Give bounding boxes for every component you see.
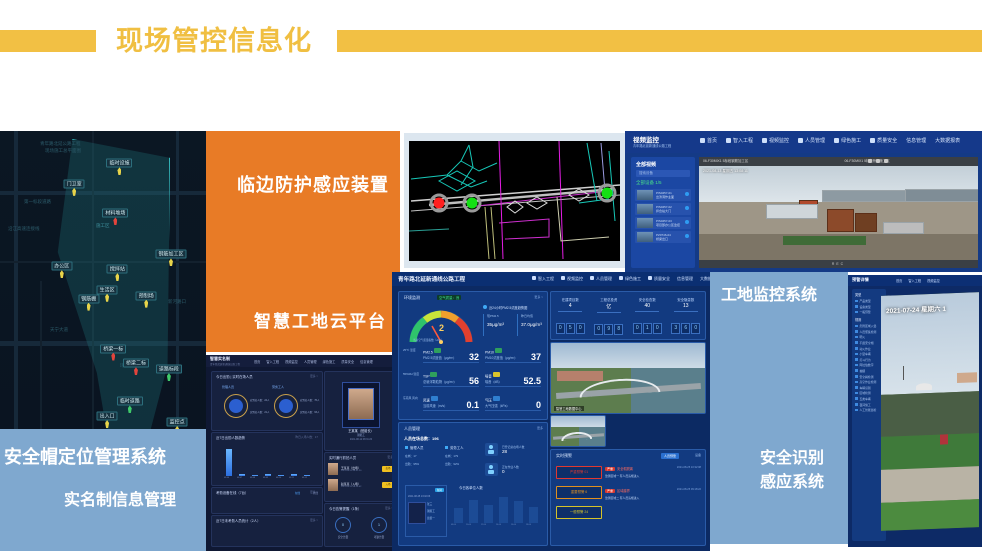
realname-dashboard-panel[interactable]: 智慧实名制 青年路北延新通线公路工程 首页智入工程视频监控人员管理绿色施工质量安… [206, 355, 400, 551]
dashboard-nav-item[interactable]: 视频监控 [561, 276, 583, 282]
counter-digits: 050 [551, 316, 590, 334]
feed-crate [855, 213, 877, 232]
env-metric-side: 55%RH 湿度 [403, 372, 421, 376]
attendance-chart-axis: 08-0608-0708-0808-0908-1008-1108-12 [224, 477, 316, 483]
cad-clash-node[interactable] [598, 184, 617, 203]
map-marker-label[interactable]: 生活区 [97, 285, 118, 294]
counter-divider [558, 311, 582, 312]
camera-status-dot [685, 220, 689, 224]
nav-icon [619, 276, 623, 280]
realname-nav-item[interactable]: 绿色施工 [323, 359, 336, 364]
attendance-card[interactable]: 今日出勤 | 实时在场人员 更多 > 管理人员 劳务工人 应到总人数：24人 实… [211, 371, 323, 431]
realname-topbar: 智慧实名制 青年路北延新通线公路工程 首页智入工程视频监控人员管理绿色施工质量安… [206, 355, 400, 367]
device-card-title: 考勤设备在线（7台） [216, 490, 248, 495]
bar [514, 501, 523, 523]
dashboard-nav[interactable]: 智入工程视频监控人员管理绿色施工质量安全信息管理大数据报表 [532, 276, 710, 282]
people-card-more[interactable]: 更多 [537, 426, 543, 430]
video-nav-item[interactable]: 大数据报表 [935, 137, 960, 144]
map-marker-label[interactable]: 钢筋棚 [78, 294, 99, 303]
realname-nav-item[interactable]: 首页 [254, 359, 260, 364]
env-card-title: 环境监测 [404, 295, 420, 301]
trend-card-title: 近7日出勤人数趋势 [216, 435, 245, 440]
env-metric-value: 37 [531, 352, 541, 362]
alarm-stat-label: 安全告警 [335, 535, 351, 539]
people-photo-card[interactable]: 在岗 2021-08-25 13:02:06 张三钢筋工班组一 [405, 485, 447, 537]
people-group-name: 劳务工人 [445, 445, 464, 450]
video-camera-list[interactable]: PIS0457-01出渣洞作业面PIS0457-02拌合站大门PIS0457-0… [631, 189, 695, 243]
person-icon [485, 463, 498, 476]
video-nav-item[interactable]: 首页 [700, 137, 717, 144]
env-metric-value: 32 [469, 352, 479, 362]
warn-topbar: 预警详情 首页智入工程视频监控 [848, 275, 982, 286]
alarm-row[interactable]: 严重安全帽脱离2021-08-25 10:32:08监测区域一 有人员违规进入 [605, 466, 701, 478]
bar [304, 475, 310, 476]
device-online-card[interactable]: 考勤设备在线（7台） 更多 > 在线 离线 [211, 487, 323, 514]
capture-rows[interactable]: 王某某（出场）2021-08-12 08:31:20出场赵某某（入场）2021-… [328, 463, 394, 495]
realname-project: 青年路北延新通线公路工程 [210, 362, 240, 366]
camera-text: PIS0457-01出渣洞作业面 [656, 191, 674, 200]
bar [252, 475, 258, 476]
realname-nav-item[interactable]: 信息管理 [360, 359, 373, 364]
nav-icon [834, 138, 839, 143]
bar [484, 505, 493, 523]
device-legend-online: 在线 [295, 491, 300, 495]
env-metric: 风速 当前风速（m/s）0.1 [423, 396, 479, 411]
bullet-icon [405, 446, 408, 449]
project-counter: 在建项目数4050 [551, 297, 590, 334]
orange-caption-line2: 智慧工地云平台 [254, 307, 387, 332]
axis-tick-label: 08-08 [250, 477, 255, 479]
people-total: 人员在场总数：196 [404, 436, 439, 442]
map-marker-label[interactable]: 桥梁二标 [123, 359, 149, 368]
people-rate: 出勤：95% [405, 462, 424, 466]
attendance-trend-card[interactable]: 近7日出勤人数趋势 昨日入场人数：17 08-0608-0708-0808-09… [211, 432, 323, 486]
video-nav-item[interactable]: 人员管理 [798, 137, 825, 144]
attendance-card-more[interactable]: 更多 > [310, 374, 318, 378]
env-metric-value: 56 [469, 376, 479, 386]
axis-tick-label: 16:00 [511, 524, 516, 526]
alarm-row-title: 区域越界 [617, 489, 630, 493]
env-metric-value: 0.1 [466, 400, 479, 410]
face-frame [342, 382, 380, 428]
people-on-duty: 在岗：179 [445, 454, 464, 458]
video-nav-item[interactable]: 质量安全 [870, 137, 897, 144]
bar [469, 500, 478, 523]
capture-row[interactable]: 王某某（出场）2021-08-12 08:31:20出场 [328, 463, 394, 475]
project-counters-card: 在建项目数4050工程总投资亿098安全检查数40010安全隐患数13360 [550, 291, 706, 340]
map-label: 沿江高速连接线 [8, 226, 40, 232]
face-capture-card[interactable]: 王某某（班组长） 钢筋工 2021-08-12 08:31:20 [324, 371, 398, 451]
alarm-tab-people[interactable]: 人员预警 [661, 453, 679, 459]
map-label: 天宁大道 [50, 327, 68, 333]
video-sidebar-title: 全部视频 [631, 157, 695, 170]
realtime-alarm-card[interactable]: 实时预警 人员预警 设备 严重预警 01重要预警 6一般预警 24 严重安全帽脱… [550, 449, 706, 546]
people-photo-time: 2021-08-25 13:02:06 [408, 495, 430, 498]
env-note-text: 近24小时PM2.5浓度趋势图 [489, 306, 527, 310]
alarm-row-tag: 严重 [605, 489, 615, 493]
dashboard-nav-item[interactable]: 信息管理 [677, 276, 693, 282]
warn-photo-person [940, 434, 948, 444]
bar [226, 449, 232, 476]
device-legend-offline: 离线 [313, 491, 318, 495]
missed-card-title: 近7日未考勤人员统计（2人） [216, 518, 260, 523]
warn-nav-item[interactable]: 首页 [896, 278, 902, 283]
capture-row[interactable]: 赵某某（入场）2021-08-12 08:29:02入场 [328, 479, 394, 491]
counter-divider [674, 311, 698, 312]
gauge-manager-sub-b: 实到总人数：21人 [250, 410, 269, 414]
axis-tick-label: 08-12 [302, 477, 307, 479]
realname-nav-item[interactable]: 质量安全 [341, 359, 354, 364]
map-marker-label[interactable]: 道路标段 [156, 365, 182, 374]
smart-site-dashboard-panel[interactable]: 青年路北延新通线公路工程 智入工程视频监控人员管理绿色施工质量安全信息管理大数据… [392, 272, 710, 551]
counter-digits: 098 [590, 317, 629, 335]
people-on-duty: 在岗：17 [405, 454, 424, 458]
capture-list-card[interactable]: 实时通行抓拍人员 更多 王某某（出场）2021-08-12 08:31:20出场… [324, 452, 398, 502]
video-project-name: 青年路北延新通线公路工程 [633, 143, 671, 148]
header-accent-bar-left [0, 30, 96, 52]
alarm-stats-title: 今日告警提醒（1条） [329, 506, 361, 511]
warn-photo-foreground [881, 499, 979, 531]
alarm-stat-value: 1 [371, 517, 387, 533]
map-marker-label[interactable]: 门卫室 [64, 179, 85, 188]
camera-text: PZ0746-04桥梁出口 [656, 233, 671, 242]
axis-tick-label: 14:00 [496, 524, 501, 526]
people-meta-item: 钢筋工 [427, 509, 435, 513]
feed-structure [822, 190, 908, 201]
counter-value: 40 [628, 303, 667, 309]
gauge-worker-sub-b: 实到总人数：63人 [300, 410, 319, 414]
people-group: 管理人员在岗：17出勤：95% [405, 445, 424, 466]
map-marker-label[interactable]: 出入口 [97, 412, 118, 421]
alarm-stats-card[interactable]: 今日告警提醒（1条） 更多 > 0安全告警1考勤告警 [324, 503, 398, 547]
axis-tick-label: 08-06 [224, 477, 229, 479]
project-thumb-card[interactable] [550, 415, 606, 447]
axis-tick-label: 10:00 [466, 524, 471, 526]
camera-thumbnail [637, 204, 653, 214]
gauge-worker [274, 394, 298, 418]
env-pm-now-label: 现PM2.5 [487, 314, 499, 318]
video-surveillance-panel[interactable]: 视频监控 青年路北延新通线公路工程 首页智入工程视频监控人员管理绿色施工质量安全… [625, 131, 982, 272]
attendance-bar-chart [224, 444, 316, 476]
env-metric-badge [493, 396, 500, 401]
video-all-label: 全部设备 1/5 [636, 180, 690, 186]
camera-status-dot [685, 192, 689, 196]
people-side-text: 已登记总在场人数28 [502, 445, 524, 454]
dashboard-nav-item[interactable]: 大数据报表 [700, 276, 710, 282]
people-photo-thumb [408, 502, 426, 524]
warn-photo-road [881, 466, 979, 503]
alarm-tab-device[interactable]: 设备 [695, 453, 701, 457]
axis-tick-label: 08-11 [289, 477, 294, 479]
people-chart-title: 今日各单位人数 [459, 485, 483, 490]
record-icon[interactable] [876, 159, 880, 163]
gauge-manager-sub-a: 应到总人数：24人 [250, 398, 269, 402]
thumb-sky [551, 416, 605, 427]
video-feed[interactable]: 2021-08-13 星期五 13:08:11 [699, 166, 978, 260]
warn-photo[interactable] [881, 292, 979, 531]
counter-value: 亿 [590, 303, 629, 310]
bar [278, 475, 284, 476]
counter-label: 安全隐患数 [667, 297, 706, 302]
feed-crate [827, 209, 854, 232]
env-pm-day-value: 37.0μg/m³ [521, 322, 542, 327]
camera-text: PIS0457-03项目部办公区监控 [656, 219, 680, 228]
dashboard-nav-item[interactable]: 智入工程 [532, 276, 554, 282]
video-nav[interactable]: 首页智入工程视频监控人员管理绿色施工质量安全信息管理大数据报表 [700, 137, 960, 144]
blue-caption-line2: 安全识别 [760, 444, 824, 468]
axis-tick-label: 08:00 [451, 524, 456, 526]
map-label: 新河路口 [168, 299, 186, 305]
cad-clash-node[interactable] [430, 194, 449, 213]
camera-thumbnail [637, 218, 653, 228]
map-marker-label[interactable]: 钢筋加工区 [155, 250, 186, 259]
feed-vegetation [783, 236, 867, 245]
video-camera-sidebar[interactable]: 全部视频 搜索设备 全部设备 1/5 PIS0457-01出渣洞作业面PIS04… [631, 157, 695, 268]
trend-card-right: 昨日入场人数：17 [295, 435, 318, 439]
env-divider [483, 314, 484, 336]
legend-dot-icon [483, 305, 487, 309]
aqi-value: 2 [439, 323, 444, 333]
map-marker-label[interactable]: 监控点 [167, 418, 188, 427]
people-group: 劳务工人在岗：179出勤：92% [445, 445, 464, 466]
capture-face-thumb [328, 463, 338, 475]
aqi-caption: 当前空气质量指数（AQI） [413, 338, 443, 342]
warn-photo-tent [916, 383, 932, 391]
axis-tick-label: 08-10 [276, 477, 281, 479]
realname-nav[interactable]: 首页智入工程视频监控人员管理绿色施工质量安全信息管理 [254, 359, 373, 364]
gallery-caption: 智慧工地数据中心 [554, 406, 584, 411]
alarm-row-time: 2021-08-25 10:32:08 [677, 466, 701, 469]
map-label: 现场施工总平面图 [45, 148, 81, 154]
attendance-card-title: 今日出勤 | 实时在场人员 [216, 374, 253, 379]
nav-icon [798, 138, 803, 143]
header-accent-bar-right [337, 30, 982, 52]
bar [239, 474, 245, 476]
realname-nav-item[interactable]: 视频监控 [285, 359, 298, 364]
capture-face-thumb [328, 479, 338, 491]
warn-photo-grass [881, 433, 979, 470]
warn-title: 预警详情 [852, 277, 869, 283]
gauge-manager-label: 管理人员 [222, 385, 234, 389]
orange-caption-line1: 临边防护感应装置 [237, 171, 389, 197]
env-metric-unit: 大气压强（kPa） [485, 403, 541, 408]
counter-digits: 360 [667, 316, 706, 334]
bar [454, 508, 463, 523]
map-marker-label[interactable]: 临时设施 [106, 159, 132, 168]
counter-divider [597, 312, 621, 313]
map-caption-line2: 实名制信息管理 [64, 486, 176, 510]
camera-thumbnail [637, 190, 653, 200]
map-marker-label[interactable]: 材料堆场 [102, 209, 128, 218]
camera-text: PIS0457-02拌合站大门 [656, 205, 672, 214]
env-metric-value: 0 [536, 400, 541, 410]
alarm-row-title: 安全帽脱离 [617, 467, 633, 471]
alarm-row-tag: 严重 [605, 467, 615, 471]
nav-icon [590, 276, 594, 280]
people-side-stats: 已登记总在场人数28正在作业人数0 [485, 443, 524, 483]
video-camera-item[interactable]: PIS0457-03项目部办公区监控 [635, 217, 691, 229]
video-nav-item[interactable]: 绿色施工 [834, 137, 861, 144]
env-pm-day-label: 昨日均值 [521, 314, 533, 318]
map-marker-label[interactable]: 桥梁一标 [100, 344, 126, 353]
axis-tick-label: 08-07 [237, 477, 242, 479]
camera-thumbnail [637, 232, 653, 242]
people-meta-item: 班组一 [427, 516, 435, 520]
bar [265, 474, 271, 476]
video-rec-label: REC [832, 262, 845, 266]
warn-photo-house [957, 372, 977, 383]
people-photo-tag: 在岗 [435, 488, 444, 492]
bar [499, 497, 508, 523]
camera-icon[interactable] [868, 159, 872, 163]
people-group-name: 管理人员 [405, 445, 424, 450]
env-metric: TSP 总悬浮颗粒物（μg/m³）56 [423, 372, 479, 387]
feed-wall [883, 222, 924, 233]
map-label: 青年路北延公路工程 [40, 141, 81, 147]
people-bar-chart [451, 493, 541, 523]
warn-nav[interactable]: 首页智入工程视频监控 [896, 278, 940, 283]
bim-clash-detection-panel[interactable] [404, 133, 625, 268]
video-main-view[interactable]: 06-F30MIX1 5标段钢筋加工区 06-F30MIX1 5标段桥面施工区 [699, 157, 978, 268]
people-side-stat: 正在作业人数0 [485, 463, 524, 476]
warn-photo-water [881, 391, 979, 437]
video-search-input[interactable]: 搜索设备 [636, 170, 690, 177]
axis-tick-label: 08-09 [263, 477, 268, 479]
video-nav-item[interactable]: 信息管理 [906, 137, 926, 144]
counter-items: 在建项目数4050工程总投资亿098安全检查数40010安全隐患数13360 [551, 292, 705, 339]
env-metric: 气压 大气压强（kPa）0 [485, 396, 541, 411]
render-sky [551, 343, 705, 368]
page-title: 现场管控信息化 [116, 24, 331, 60]
bullet-icon [445, 446, 448, 449]
ai-warning-panel[interactable]: 预警详情 首页智入工程视频监控 类型产品类型设备类型一般预警规则危险区域入侵人员… [848, 275, 982, 547]
video-toolbar-icons[interactable] [868, 159, 888, 163]
missed-card-more[interactable]: 更多 > [310, 518, 318, 522]
people-side-text: 正在作业人数0 [502, 465, 519, 474]
people-management-card[interactable]: 人员管理 更多 人员在场总数：196 管理人员在岗：17出勤：95%劳务工人在岗… [398, 422, 548, 546]
realname-nav-item[interactable]: 智入工程 [266, 359, 279, 364]
map-caption-line1: 安全帽定位管理系统 [4, 443, 166, 469]
alarm-level[interactable]: 严重预警 01 [556, 466, 602, 479]
map-marker-label[interactable]: 预制场 [136, 291, 157, 300]
alarm-row-detail: 监测区域一 有人员违规进入 [605, 474, 701, 478]
video-feed-left-title: 06-F30MIX1 5标段钢筋加工区 [703, 158, 748, 163]
video-nav-item[interactable]: 视频监控 [762, 137, 789, 144]
camera-status-dot [685, 206, 689, 210]
alarm-row-time: 2021-08-25 09:18:22 [677, 488, 701, 491]
environment-card[interactable]: 环境监测 空气质量：良 更多 > 2 当前空气质量指数（AQI） 近24小时PM… [398, 291, 548, 420]
realname-nav-item[interactable]: 人员管理 [304, 359, 317, 364]
counter-value: 4 [551, 303, 590, 309]
env-metric-value: 52.5 [523, 376, 541, 386]
env-pm-now-value: 35μg/m³ [487, 322, 504, 327]
alarm-row[interactable]: 严重区域越界2021-08-25 09:18:22监测区域二 有人员违规进入 [605, 488, 701, 500]
alarm-row-detail: 监测区域二 有人员违规进入 [605, 496, 701, 500]
env-metric-side: 25℃ 温度 [403, 348, 421, 352]
counter-value: 13 [667, 303, 706, 309]
video-camera-item[interactable]: PIS0457-01出渣洞作业面 [635, 189, 691, 201]
project-counter: 安全检查数40010 [628, 297, 667, 334]
bar [529, 507, 538, 524]
map-zone-label: 施工区 [96, 223, 110, 229]
map-marker-label[interactable]: 搅拌站 [107, 265, 128, 274]
people-photo-meta: 张三钢筋工班组一 [427, 502, 435, 523]
gauge-worker-label: 劳务工人 [272, 385, 284, 389]
capture-text: 王某某（出场）2021-08-12 08:31:20 [341, 466, 361, 472]
video-topbar: 视频监控 青年路北延新通线公路工程 首页智入工程视频监控人员管理绿色施工质量安全… [625, 131, 982, 153]
bar [291, 474, 297, 476]
nav-icon [726, 138, 731, 143]
counter-digits: 010 [628, 316, 667, 334]
nav-icon [870, 138, 875, 143]
face-photo [348, 388, 374, 420]
video-camera-item[interactable]: PIS0457-02拌合站大门 [635, 203, 691, 215]
dashboard-nav-item[interactable]: 质量安全 [648, 276, 670, 282]
alarm-level[interactable]: 重要预警 6 [556, 486, 602, 499]
slide-root: 现场管控信息化 青年路北延公路工程 现场施工总平面图 第一标段道路 沿江高速连接… [0, 0, 982, 551]
map-marker-label[interactable]: 办公区 [51, 262, 72, 271]
nav-icon [700, 138, 705, 143]
dashboard-topbar: 青年路北延新通线公路工程 智入工程视频监控人员管理绿色施工质量安全信息管理大数据… [392, 272, 710, 286]
video-nav-item[interactable]: 智入工程 [726, 137, 753, 144]
alarm-card-title: 实时预警 [556, 453, 572, 459]
capture-text: 赵某某（入场）2021-08-12 08:29:02 [341, 482, 361, 488]
camera-status-dot [685, 234, 689, 238]
alarm-level[interactable]: 一般预警 24 [556, 506, 602, 519]
env-metric: PM10 PM10浓度值（μg/m³）37 [485, 348, 541, 363]
warn-photo-pole [903, 366, 904, 380]
map-marker-label[interactable]: 临时道路 [117, 397, 143, 406]
env-status-badge: 空气质量：良 [437, 295, 461, 300]
feed-wall [766, 204, 818, 219]
blue-caption-line3: 感应系统 [760, 468, 824, 492]
people-side-stat: 已登记总在场人数28 [485, 443, 524, 456]
dashboard-nav-item[interactable]: 绿色施工 [619, 276, 641, 282]
video-camera-item[interactable]: PZ0746-04桥梁出口 [635, 231, 691, 243]
alarm-stat-items: 0安全告警1考勤告警 [325, 517, 397, 539]
warn-nav-item[interactable]: 视频监控 [927, 278, 940, 283]
env-metric-badge [431, 396, 438, 401]
project-counter: 工程总投资亿098 [590, 297, 629, 335]
video-controlbar[interactable]: REC [699, 260, 978, 268]
blue-caption-line1: 工地监控系统 [721, 281, 817, 305]
video-timestamp: 2021-08-13 星期五 13:08:11 [703, 169, 748, 174]
dashboard-title: 青年路北延新通线公路工程 [398, 275, 465, 283]
dashboard-nav-item[interactable]: 人员管理 [590, 276, 612, 282]
axis-tick-label: 12:00 [481, 524, 486, 526]
cad-canvas [409, 141, 620, 261]
warn-nav-item[interactable]: 智入工程 [908, 278, 921, 283]
env-metric-badge [493, 372, 500, 377]
axis-tick-label: 18:00 [526, 524, 531, 526]
env-card-more[interactable]: 更多 > [534, 295, 543, 299]
nav-icon [648, 276, 652, 280]
missed-attendance-card[interactable]: 近7日未考勤人员统计（2人） 更多 > [211, 515, 323, 547]
cad-clash-node[interactable] [463, 194, 482, 213]
nav-icon [762, 138, 767, 143]
nav-icon [561, 276, 565, 280]
env-metric-badge [430, 372, 437, 377]
env-metric: 噪音 噪音（dB）52.5 [485, 372, 541, 387]
project-render-card[interactable]: 智慧工地数据中心 [550, 342, 706, 414]
render-buildings [557, 371, 603, 381]
zoom-icon[interactable] [884, 159, 888, 163]
alarm-stat-item: 1考勤告警 [371, 517, 387, 539]
helmet-location-map-panel[interactable]: 青年路北延公路工程 现场施工总平面图 第一标段道路 沿江高速连接线 施工区 新河… [0, 131, 206, 551]
project-counter: 安全隐患数13360 [667, 297, 706, 334]
capture-list-title: 实时通行抓拍人员 [329, 455, 356, 460]
env-note: 近24小时PM2.5浓度趋势图 [483, 305, 527, 310]
